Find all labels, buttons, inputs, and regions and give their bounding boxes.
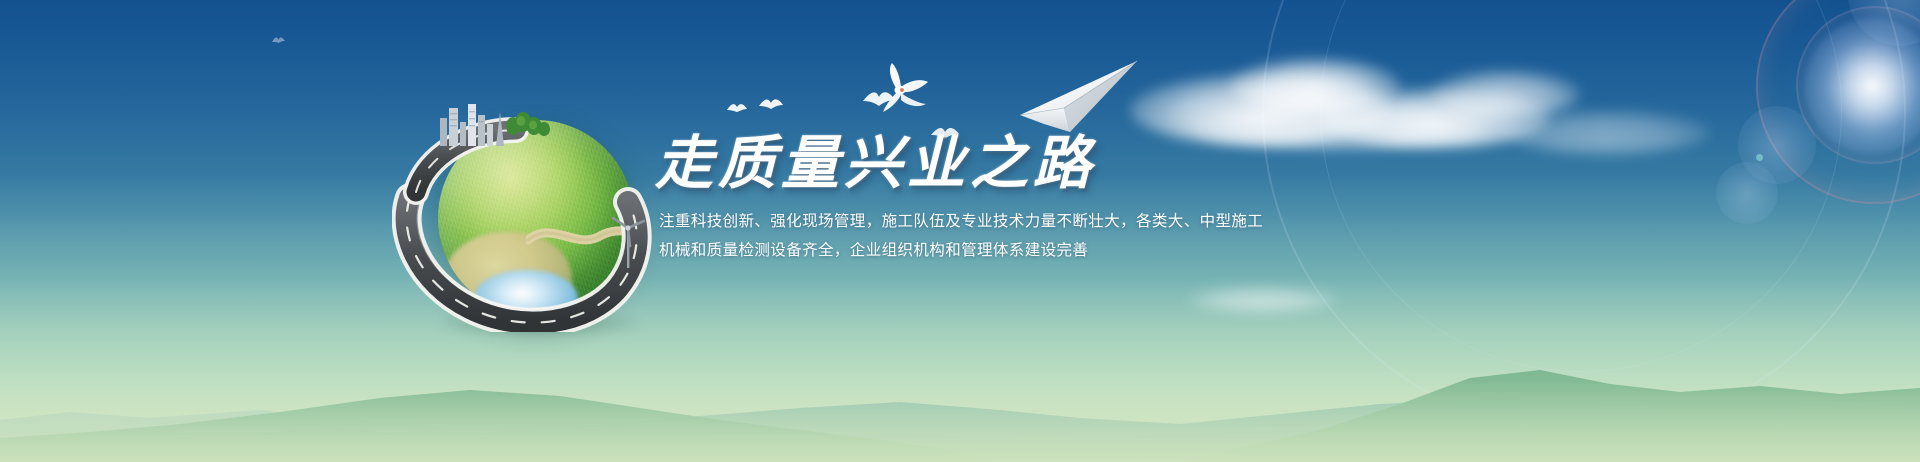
cloud-icon — [1430, 70, 1580, 118]
flare-ring-outer — [1756, 0, 1920, 204]
cloud-icon — [1320, 88, 1550, 148]
flare-dot — [1756, 154, 1763, 161]
grass-globe — [398, 104, 648, 334]
globe-sphere — [438, 120, 634, 316]
flare-ghost-orb — [1848, 0, 1920, 46]
banner-subtitle: 注重科技创新、强化现场管理，施工队伍及专业技术力量不断壮大，各类大、中型施工 机… — [659, 207, 1275, 264]
cloud-icon — [1230, 58, 1400, 114]
dove-icon — [866, 60, 934, 116]
cloud-icon — [1188, 286, 1338, 312]
city-skyline-icon — [436, 102, 510, 146]
cloud-icon — [1500, 110, 1710, 154]
sun-flare-icon — [1752, 0, 1920, 206]
tree-cluster-icon — [506, 110, 550, 136]
dove-icon — [862, 88, 896, 110]
flare-ghost-orb — [1738, 106, 1816, 184]
subtitle-line-2: 机械和质量检测设备齐全，企业组织机构和管理体系建设完善 — [659, 236, 1275, 265]
hero-banner: 走质量兴业之路 注重科技创新、强化现场管理，施工队伍及专业技术力量不断壮大，各类… — [0, 0, 1920, 462]
dove-icon — [726, 101, 748, 115]
flare-ring-inner — [1796, 6, 1920, 164]
flare-ghost-orb — [1716, 162, 1778, 224]
paper-airplane-icon — [1008, 56, 1144, 138]
wind-turbine-icon — [610, 212, 648, 268]
lens-flare-arc-inner — [1320, 0, 1842, 372]
lens-flare-arc-outer — [1262, 0, 1906, 434]
page-title: 走质量兴业之路 — [655, 133, 1275, 193]
dove-icon — [272, 36, 285, 45]
subtitle-line-1: 注重科技创新、强化现场管理，施工队伍及专业技术力量不断壮大，各类大、中型施工 — [659, 207, 1275, 236]
banner-copy: 走质量兴业之路 注重科技创新、强化现场管理，施工队伍及专业技术力量不断壮大，各类… — [655, 133, 1275, 265]
dove-icon — [758, 96, 784, 112]
sun-core — [1804, 18, 1920, 154]
hills-landscape — [0, 252, 1920, 462]
